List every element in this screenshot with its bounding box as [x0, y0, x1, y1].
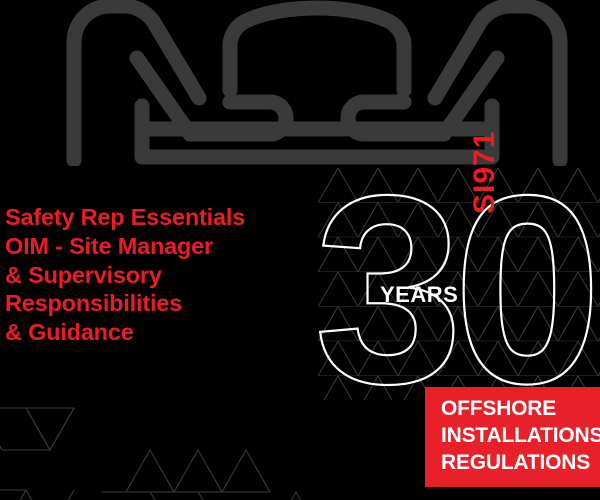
headline-line-1: Safety Rep Essentials	[5, 203, 335, 232]
triangle-decoration-bottom-center	[100, 440, 450, 500]
badge-years-label: YEARS	[380, 284, 458, 306]
headline-line-2: OIM - Site Manager	[5, 232, 335, 261]
regulations-line-2: INSTALLATIONS	[425, 422, 600, 449]
headline-line-3: & Supervisory	[5, 261, 335, 290]
page-title: Safety Rep Essentials OIM - Site Manager…	[5, 203, 335, 347]
regulations-line-1: OFFSHORE	[425, 387, 600, 422]
anniversary-badge: 30 YEARS SI971	[318, 168, 600, 400]
triangle-decoration-bottom-left	[0, 392, 310, 500]
poster-canvas: 30 YEARS SI971 Safety Rep Essentials OIM…	[0, 0, 600, 500]
badge-number-30: 30	[318, 168, 600, 400]
regulations-badge: OFFSHORE INSTALLATIONS REGULATIONS	[425, 387, 600, 487]
regulations-line-3: REGULATIONS	[425, 449, 600, 476]
headline-line-4: Responsibilities	[5, 289, 335, 318]
headline-line-5: & Guidance	[5, 318, 335, 347]
badge-since-label: SI971	[470, 131, 500, 214]
